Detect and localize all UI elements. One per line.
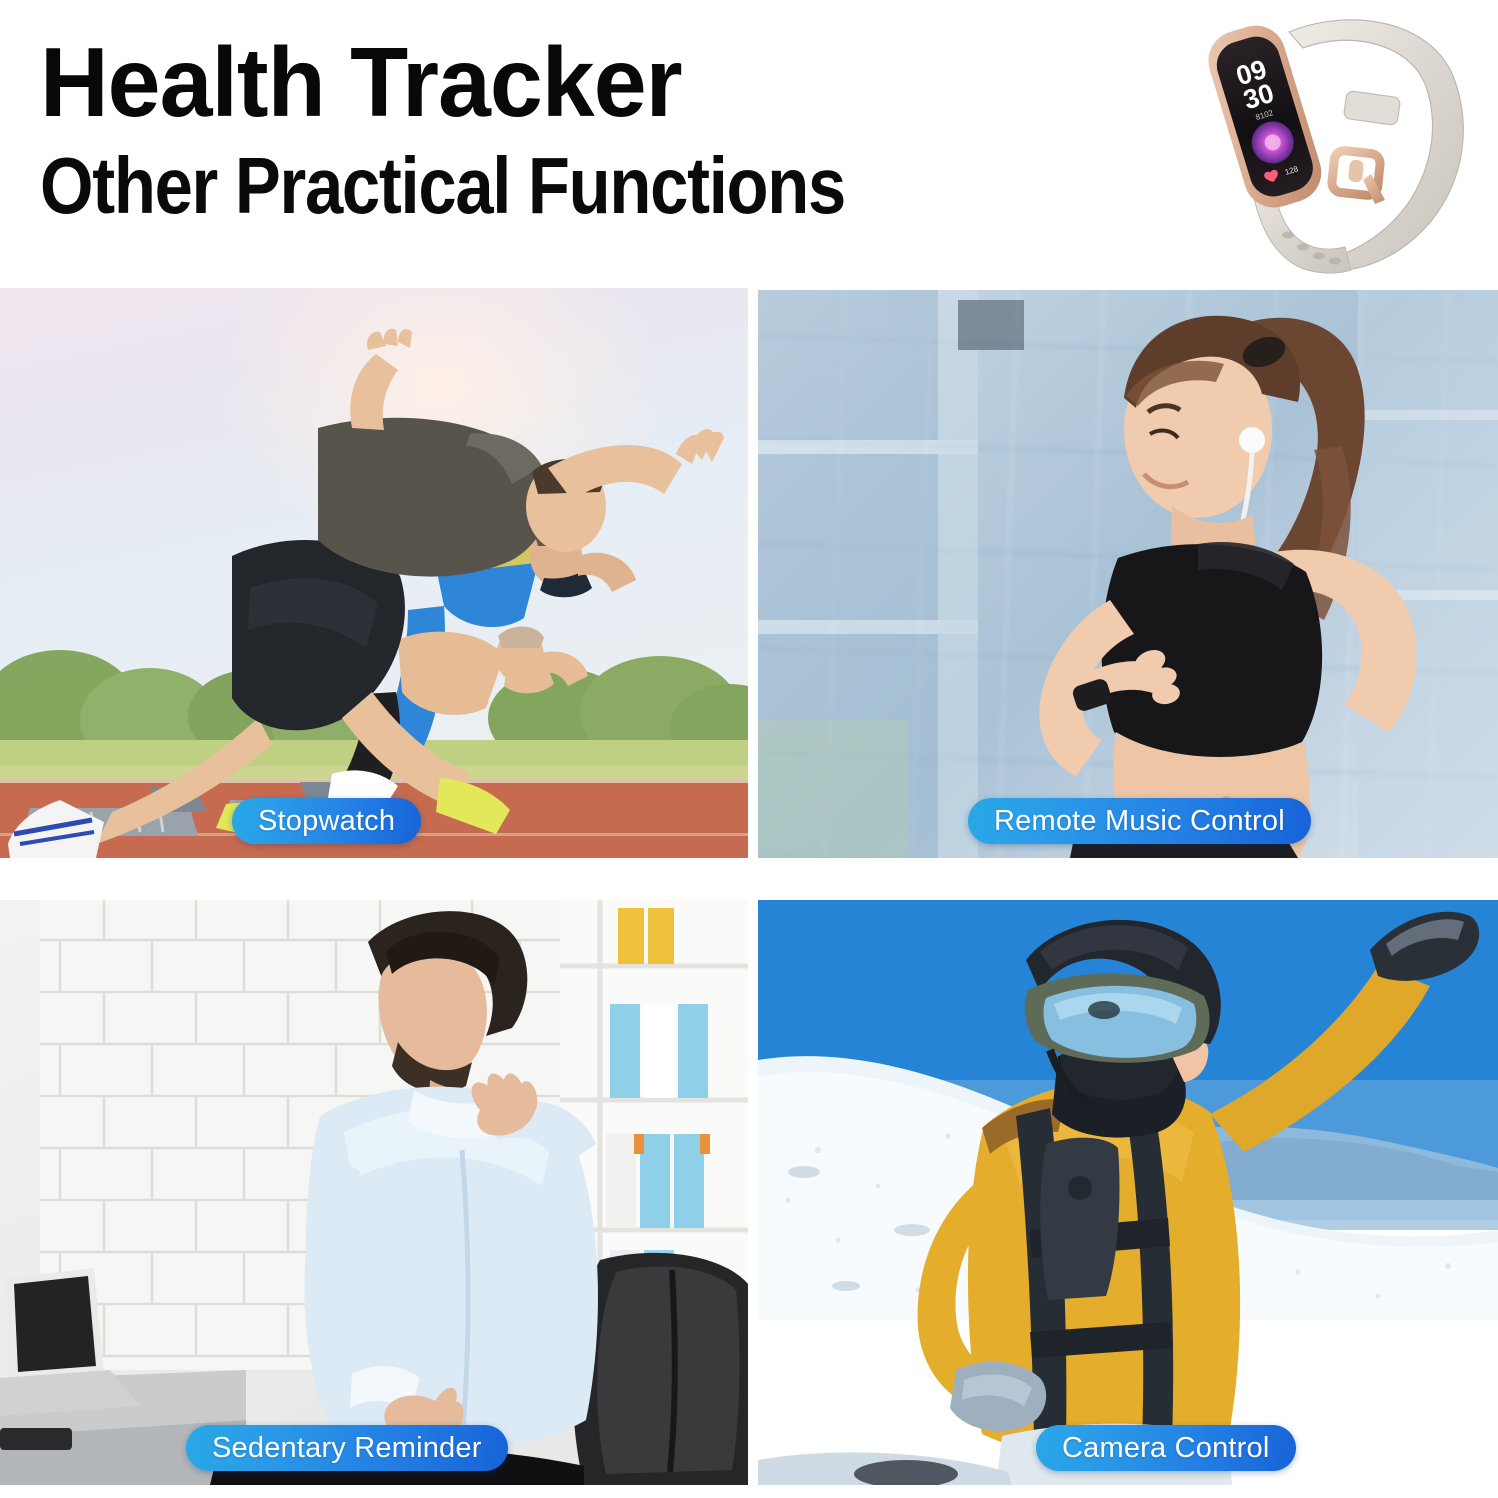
woman-music-scene — [758, 290, 1498, 858]
feature-badge-sedentary-reminder[interactable]: Sedentary Reminder — [186, 1425, 508, 1471]
photo-sprinters-starting-blocks — [0, 288, 748, 858]
earphone — [1239, 427, 1265, 453]
page-subtitle: Other Practical Functions — [40, 146, 952, 226]
feature-card-camera-control[interactable]: Camera Control — [758, 900, 1498, 1485]
feature-grid: Stopwatch — [0, 288, 1498, 1488]
strap-keeper — [1343, 90, 1400, 125]
photo-woman-checking-tracker — [758, 290, 1498, 858]
sports-bra — [1102, 544, 1322, 760]
feature-card-remote-music-control[interactable]: Remote Music Control — [758, 290, 1498, 858]
watch-buckle — [1331, 150, 1385, 204]
feature-badge-camera-control[interactable]: Camera Control — [1036, 1425, 1296, 1471]
laptop-screen — [14, 1276, 96, 1372]
pouch-ring — [1068, 1176, 1092, 1200]
header: Health Tracker Other Practical Functions — [40, 34, 1100, 226]
watch-body: 09 30 8102 128 — [1201, 18, 1329, 215]
fitness-tracker-illustration: 09 30 8102 128 — [1185, 4, 1485, 289]
skier-scene — [758, 900, 1498, 1485]
photo-office-back-pain — [0, 900, 748, 1485]
feature-card-stopwatch[interactable]: Stopwatch — [0, 288, 748, 858]
feature-badge-stopwatch[interactable]: Stopwatch — [232, 798, 421, 844]
feature-card-sedentary-reminder[interactable]: Sedentary Reminder — [0, 900, 748, 1485]
watch-strap — [1289, 20, 1463, 271]
feature-badge-remote-music-control[interactable]: Remote Music Control — [968, 798, 1311, 844]
phone — [0, 1428, 72, 1450]
office-scene — [0, 900, 748, 1485]
page-title: Health Tracker — [40, 34, 1068, 130]
chest-pouch — [1040, 1138, 1119, 1300]
goggles-logo — [1088, 1001, 1120, 1019]
product-image-fitness-tracker: 09 30 8102 128 — [1185, 4, 1485, 289]
sprinters-scene — [0, 288, 748, 858]
photo-skier-mountain — [758, 900, 1498, 1485]
